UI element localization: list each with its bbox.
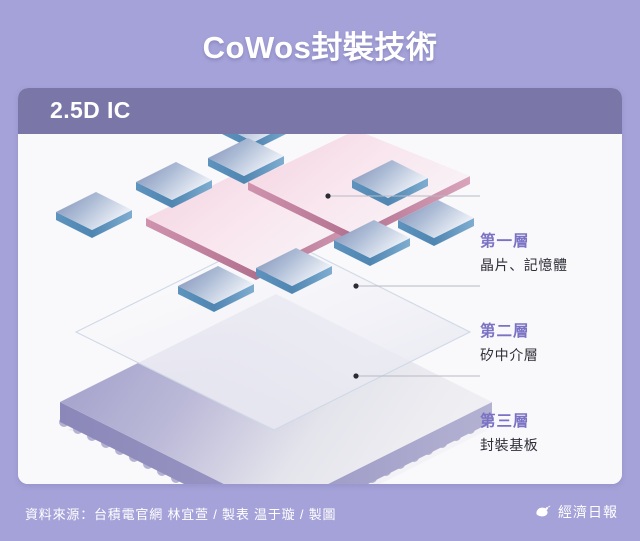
callout-layer-1-title: 第一層: [480, 232, 568, 252]
economic-daily-bird-logo-icon: [534, 503, 552, 521]
infographic-root: CoWos封裝技術 2.5D IC: [0, 0, 640, 541]
callout-layer-3-subtitle: 封裝基板: [480, 434, 538, 456]
brand-name: 經濟日報: [558, 502, 618, 522]
leader-dot-layer-2: [353, 283, 358, 288]
callout-layer-1-subtitle: 晶片、記憶體: [480, 254, 568, 276]
page-title: CoWos封裝技術: [0, 22, 640, 67]
callout-layer-2-subtitle: 矽中介層: [480, 344, 538, 366]
card-header-bar: 2.5D IC: [18, 88, 622, 134]
diagram-card: 2.5D IC: [18, 88, 622, 484]
callout-layer-3: 第三層 封裝基板: [480, 412, 538, 456]
leader-dot-layer-1: [325, 193, 330, 198]
blue-die: [56, 192, 132, 238]
callout-layer-2: 第二層 矽中介層: [480, 322, 538, 366]
footer: 資料來源：台積電官網 林宜萱 / 製表 温于璇 / 製圖 經濟日報: [0, 484, 640, 541]
footer-source-text: 資料來源：台積電官網 林宜萱 / 製表 温于璇 / 製圖: [25, 504, 336, 523]
card-body: 第一層 晶片、記憶體 第二層 矽中介層 第三層 封裝基板: [18, 134, 622, 484]
leader-dot-layer-3: [353, 373, 358, 378]
brand-block: 經濟日報: [534, 502, 618, 522]
callout-layer-1: 第一層 晶片、記憶體: [480, 232, 568, 276]
callout-layer-2-title: 第二層: [480, 322, 538, 342]
card-header-label: 2.5D IC: [50, 97, 131, 124]
callout-layer-3-title: 第三層: [480, 412, 538, 432]
